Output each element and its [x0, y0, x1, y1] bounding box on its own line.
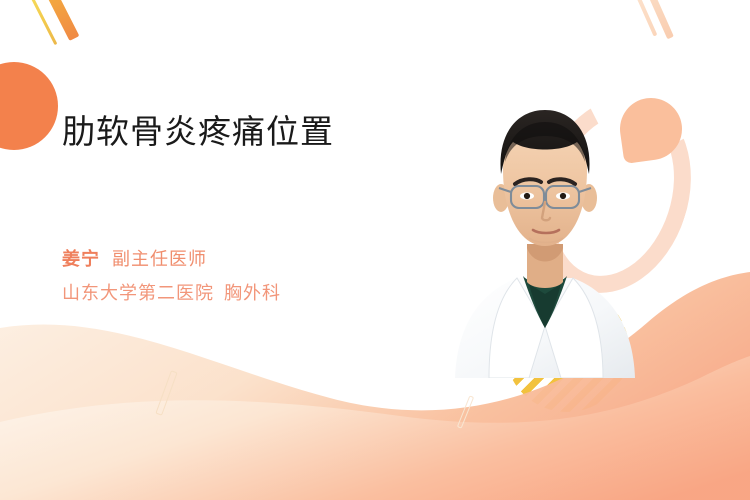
doctor-video-cover-card: 肋软骨炎疼痛位置 姜宁副主任医师 山东大学第二医院胸外科: [0, 0, 750, 500]
doctor-affiliation-line: 山东大学第二医院胸外科: [62, 280, 462, 308]
stripe-top-left-thin-icon: [26, 0, 58, 45]
doctor-hospital: 山东大学第二医院: [62, 283, 214, 303]
stripe-top-right-a-icon: [633, 0, 658, 37]
page-title: 肋软骨炎疼痛位置: [62, 112, 442, 152]
stripe-top-right-b-icon: [647, 0, 674, 39]
outline-stripe-2-icon: [457, 395, 474, 428]
title-block: 肋软骨炎疼痛位置: [62, 112, 442, 152]
doctor-name-line: 姜宁副主任医师: [62, 246, 462, 274]
doctor-professional-title: 副主任医师: [112, 249, 207, 269]
doctor-department: 胸外科: [224, 283, 281, 303]
stripe-top-left-thick-icon: [40, 0, 80, 41]
orange-circle-decor: [0, 62, 58, 150]
doctor-info-block: 姜宁副主任医师 山东大学第二医院胸外科: [62, 246, 462, 308]
doctor-name: 姜宁: [62, 249, 100, 269]
outline-stripe-1-icon: [155, 370, 177, 416]
doctor-portrait: [443, 88, 647, 378]
